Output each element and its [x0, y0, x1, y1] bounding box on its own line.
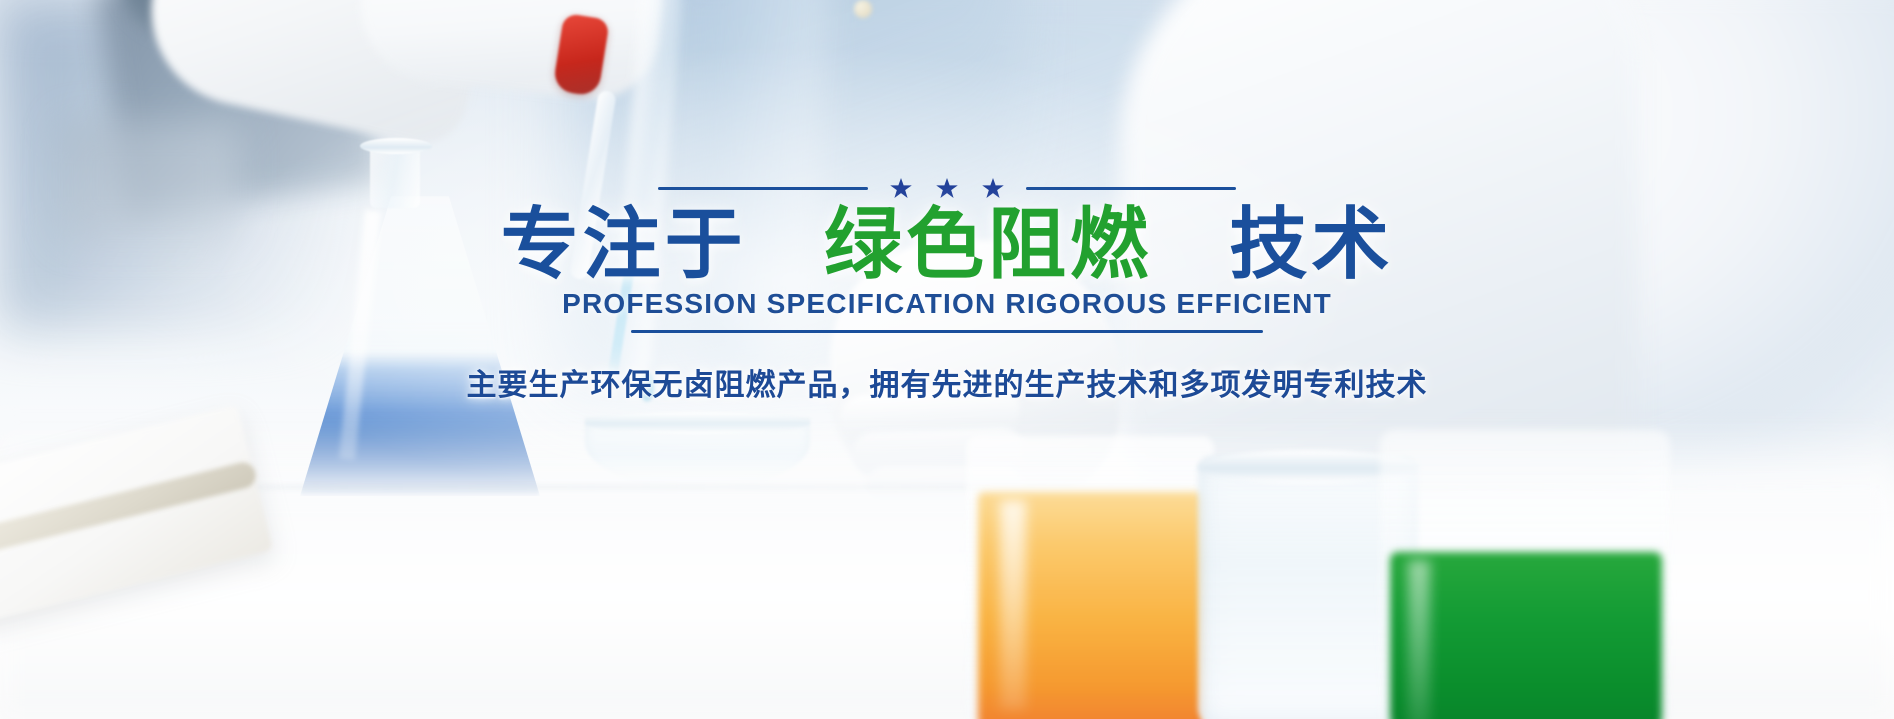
headline-part-3: 技术	[1229, 200, 1393, 288]
rule-line-right	[1026, 187, 1236, 190]
star-icon	[982, 178, 1004, 199]
green-flask-liquid	[1390, 552, 1662, 719]
page-title: 专注于 绿色阻燃 技术	[0, 198, 1894, 290]
star-icon	[936, 178, 958, 199]
hero-banner: 专注于 绿色阻燃 技术 PROFESSION SPECIFICATION RIG…	[0, 0, 1894, 719]
orange-beaker-highlight	[1000, 500, 1026, 710]
headline-underline	[631, 330, 1263, 333]
flask-rim	[360, 138, 432, 154]
english-strapline: PROFESSION SPECIFICATION RIGOROUS EFFICI…	[0, 288, 1894, 320]
star-icon	[890, 178, 912, 199]
banner-description: 主要生产环保无卤阻燃产品，拥有先进的生产技术和多项发明专利技术	[0, 360, 1894, 404]
decorative-star-rule	[617, 178, 1277, 199]
star-group	[868, 178, 1026, 199]
green-flask-highlight	[1408, 560, 1430, 719]
rule-line-left	[658, 187, 868, 190]
headline-part-2: 绿色阻燃	[824, 200, 1152, 288]
coat-button	[854, 0, 872, 18]
headline-part-1: 专注于	[501, 200, 747, 288]
